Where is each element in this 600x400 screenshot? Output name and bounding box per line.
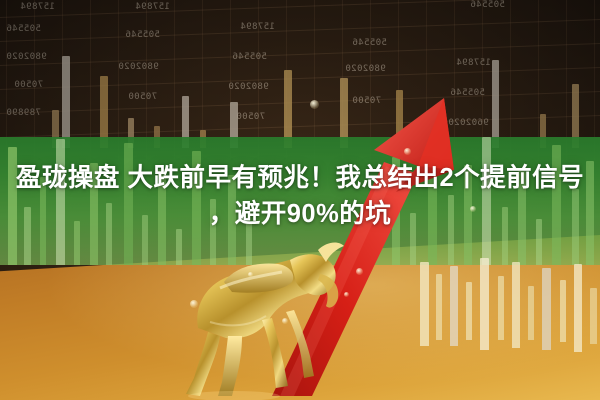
floor-bar-0 — [420, 262, 429, 346]
floor-bar-11 — [590, 288, 597, 344]
floor-bar-2 — [450, 266, 458, 346]
floor-bar-9 — [560, 280, 566, 342]
floor-bar-8 — [542, 268, 551, 350]
floor-bar-3 — [466, 282, 472, 340]
floor-bar-10 — [574, 264, 582, 352]
floor-bar-7 — [528, 286, 534, 340]
banner-image: 1578945055469802020705007898901578945055… — [0, 0, 600, 400]
floor-bar-6 — [512, 262, 520, 348]
headline-line-1: 盈珑操盘 大跌前早有预兆！我总结出2个提前信号 — [8, 160, 592, 196]
headline: 盈珑操盘 大跌前早有预兆！我总结出2个提前信号 ，避开90%的坑 — [0, 160, 600, 232]
floor-bar-4 — [480, 258, 489, 350]
floor-bar-5 — [498, 276, 504, 340]
headline-line-2: ，避开90%的坑 — [8, 196, 592, 232]
floor-bar-1 — [436, 274, 442, 340]
